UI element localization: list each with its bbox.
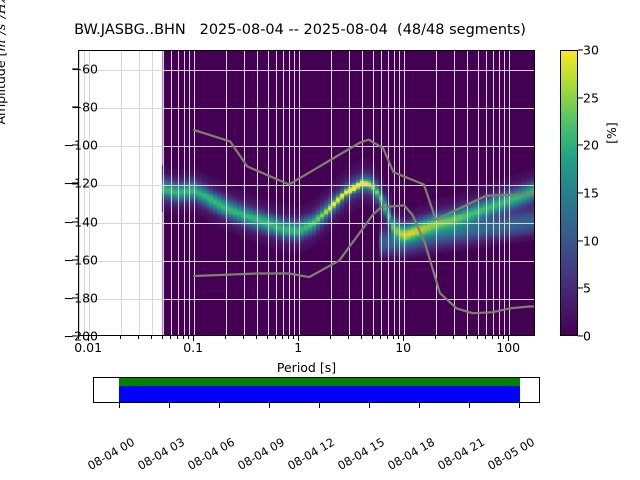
- timeline-tick-label: 08-04 06: [185, 435, 237, 473]
- timeline-tick-mark: [419, 403, 420, 408]
- colorbar-tick-mark: [578, 192, 583, 193]
- colorbar-tick-label: 10: [583, 233, 599, 248]
- y-tick-mark: [72, 107, 78, 108]
- y-tick-label: −100: [64, 138, 98, 153]
- x-tick-mark: [348, 336, 349, 339]
- x-tick-mark: [293, 336, 294, 339]
- timeline-tick-label: 08-04 18: [385, 435, 437, 473]
- noise-model-lines: [79, 51, 534, 335]
- timeline-axes: [93, 377, 540, 403]
- y-tick-mark: [72, 69, 78, 70]
- x-tick-mark: [372, 336, 373, 339]
- x-tick-label: 100: [496, 340, 520, 355]
- timeline-tick-label: 08-04 03: [135, 435, 187, 473]
- x-tick-label: 1: [294, 340, 302, 355]
- x-tick-mark: [330, 336, 331, 339]
- x-tick-mark: [243, 336, 244, 339]
- colorbar-tick-label: 5: [583, 281, 591, 296]
- x-tick-mark: [508, 336, 509, 341]
- x-tick-mark: [78, 336, 79, 339]
- x-tick-mark: [387, 336, 388, 339]
- ppsd-axes: [78, 50, 535, 336]
- y-tick-label: −180: [64, 290, 98, 305]
- y-tick-mark: [72, 221, 78, 222]
- timeline-tick-mark: [369, 403, 370, 408]
- colorbar-tick-label: 25: [583, 90, 599, 105]
- x-tick-mark: [361, 336, 362, 339]
- x-tick-mark: [120, 336, 121, 339]
- x-tick-mark: [83, 336, 84, 339]
- colorbar-tick-mark: [578, 335, 583, 336]
- x-tick-mark: [183, 336, 184, 339]
- y-tick-mark: [72, 259, 78, 260]
- ppsd-figure: BW.JASBG..BHN 2025-08-04 -- 2025-08-04 (…: [0, 0, 640, 480]
- timeline-tick-label: 08-04 09: [235, 435, 287, 473]
- plot-clip-region: [79, 51, 534, 335]
- timeline-tick-mark: [219, 403, 220, 408]
- x-tick-mark: [188, 336, 189, 339]
- timeline-tick-label: 08-04 15: [335, 435, 387, 473]
- x-tick-mark: [267, 336, 268, 339]
- y-tick-mark: [72, 145, 78, 146]
- timeline-tick-mark: [269, 403, 270, 408]
- x-tick-mark: [435, 336, 436, 339]
- x-tick-mark: [466, 336, 467, 339]
- x-tick-mark: [225, 336, 226, 339]
- x-tick-mark: [485, 336, 486, 339]
- colorbar-tick-mark: [578, 145, 583, 146]
- data-coverage-blue-bar: [119, 386, 520, 402]
- timeline-tick-label: 08-04 00: [85, 435, 137, 473]
- x-tick-mark: [498, 336, 499, 339]
- timeline-tick-mark: [469, 403, 470, 408]
- x-tick-mark: [503, 336, 504, 339]
- timeline-tick-label: 08-04 12: [285, 435, 337, 473]
- colorbar-tick-label: 30: [583, 43, 599, 58]
- x-tick-mark: [138, 336, 139, 339]
- page-title: BW.JASBG..BHN 2025-08-04 -- 2025-08-04 (…: [0, 22, 600, 38]
- y-tick-label: −160: [64, 252, 98, 267]
- x-tick-mark: [177, 336, 178, 339]
- x-axis-label: Period [s]: [78, 360, 535, 375]
- y-tick-mark: [72, 297, 78, 298]
- x-tick-mark: [275, 336, 276, 339]
- timeline-tick-mark: [119, 403, 120, 408]
- x-tick-label: 0.01: [74, 340, 102, 355]
- x-tick-mark: [477, 336, 478, 339]
- x-tick-mark: [256, 336, 257, 339]
- x-tick-mark: [393, 336, 394, 339]
- x-tick-mark: [151, 336, 152, 339]
- y-tick-mark: [72, 183, 78, 184]
- y-tick-label: −120: [64, 176, 98, 191]
- x-tick-label: 0.1: [183, 340, 203, 355]
- x-tick-mark: [288, 336, 289, 339]
- colorbar-tick-label: 20: [583, 138, 599, 153]
- timeline-tick-label: 08-04 21: [435, 435, 487, 473]
- colorbar-tick-mark: [578, 49, 583, 50]
- timeline-tick-mark: [519, 403, 520, 408]
- colorbar-tick-mark: [578, 97, 583, 98]
- x-tick-mark: [380, 336, 381, 339]
- colorbar-tick-mark: [578, 288, 583, 289]
- x-tick-mark: [398, 336, 399, 339]
- colorbar-tick-label: 0: [583, 329, 591, 344]
- x-tick-mark: [298, 336, 299, 341]
- x-tick-mark: [492, 336, 493, 339]
- noise-model-nhnm: [194, 130, 534, 220]
- y-tick-label: −140: [64, 214, 98, 229]
- data-coverage-green-bar: [119, 378, 520, 386]
- colorbar-tick-label: 15: [583, 186, 599, 201]
- x-tick-mark: [193, 336, 194, 341]
- y-axis-label: Amplitude [m2/s4/Hz] [dB]: [0, 0, 8, 193]
- timeline-tick-label: 08-05 00: [485, 435, 537, 473]
- x-tick-mark: [453, 336, 454, 339]
- x-tick-mark: [403, 336, 404, 341]
- noise-model-nlnm: [194, 205, 534, 313]
- x-tick-mark: [88, 336, 89, 341]
- colorbar-label: [%]: [604, 73, 619, 193]
- x-tick-mark: [162, 336, 163, 339]
- x-tick-mark: [170, 336, 171, 339]
- timeline-tick-mark: [169, 403, 170, 408]
- colorbar-tick-mark: [578, 240, 583, 241]
- colorbar: [560, 50, 578, 336]
- x-tick-label: 10: [395, 340, 411, 355]
- x-tick-mark: [282, 336, 283, 339]
- timeline-tick-mark: [319, 403, 320, 408]
